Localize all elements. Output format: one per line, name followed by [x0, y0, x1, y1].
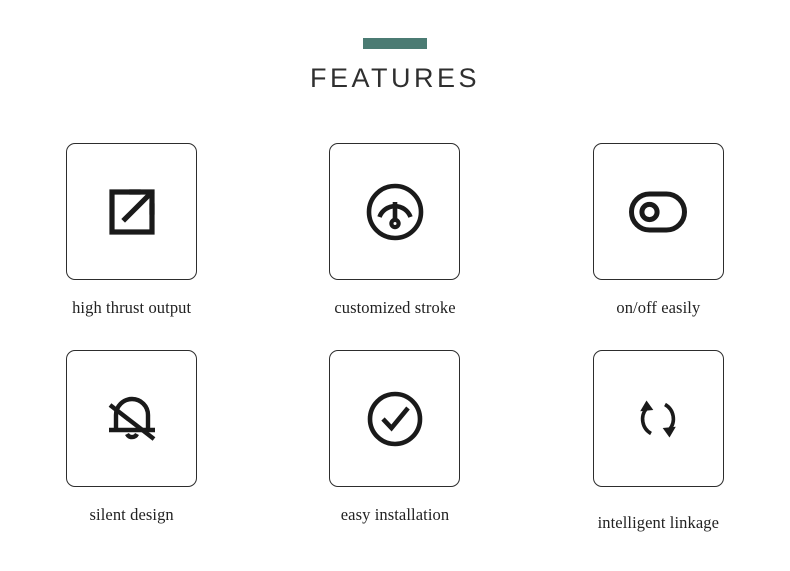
page-header: FEATURES [0, 0, 790, 92]
page-title: FEATURES [0, 65, 790, 92]
feature-label: intelligent linkage [598, 513, 720, 533]
gauge-icon [362, 179, 428, 245]
feature-icon-box[interactable] [329, 350, 460, 487]
title-accent-bar [363, 38, 427, 49]
toggle-switch-off-icon [623, 179, 693, 245]
feature-icon-box[interactable] [66, 350, 197, 487]
feature-label: customized stroke [334, 298, 455, 318]
feature-item-intelligent-linkage[interactable]: intelligent linkage [546, 350, 771, 557]
feature-item-high-thrust-output[interactable]: high thrust output [19, 143, 244, 350]
feature-item-on-off-easily[interactable]: on/off easily [546, 143, 771, 350]
external-link-icon [99, 179, 165, 245]
features-grid: high thrust output customized stroke [0, 143, 790, 557]
check-circle-icon [362, 386, 428, 452]
feature-icon-box[interactable] [593, 350, 724, 487]
feature-label: silent design [90, 505, 174, 525]
feature-item-easy-installation[interactable]: easy installation [282, 350, 507, 557]
feature-item-customized-stroke[interactable]: customized stroke [282, 143, 507, 350]
feature-icon-box[interactable] [66, 143, 197, 280]
sync-arrows-icon [625, 386, 691, 452]
feature-icon-box[interactable] [593, 143, 724, 280]
feature-label: on/off easily [616, 298, 700, 318]
feature-label: easy installation [341, 505, 449, 525]
feature-item-silent-design[interactable]: silent design [19, 350, 244, 557]
feature-label: high thrust output [72, 298, 191, 318]
feature-icon-box[interactable] [329, 143, 460, 280]
bell-off-icon [99, 386, 165, 452]
